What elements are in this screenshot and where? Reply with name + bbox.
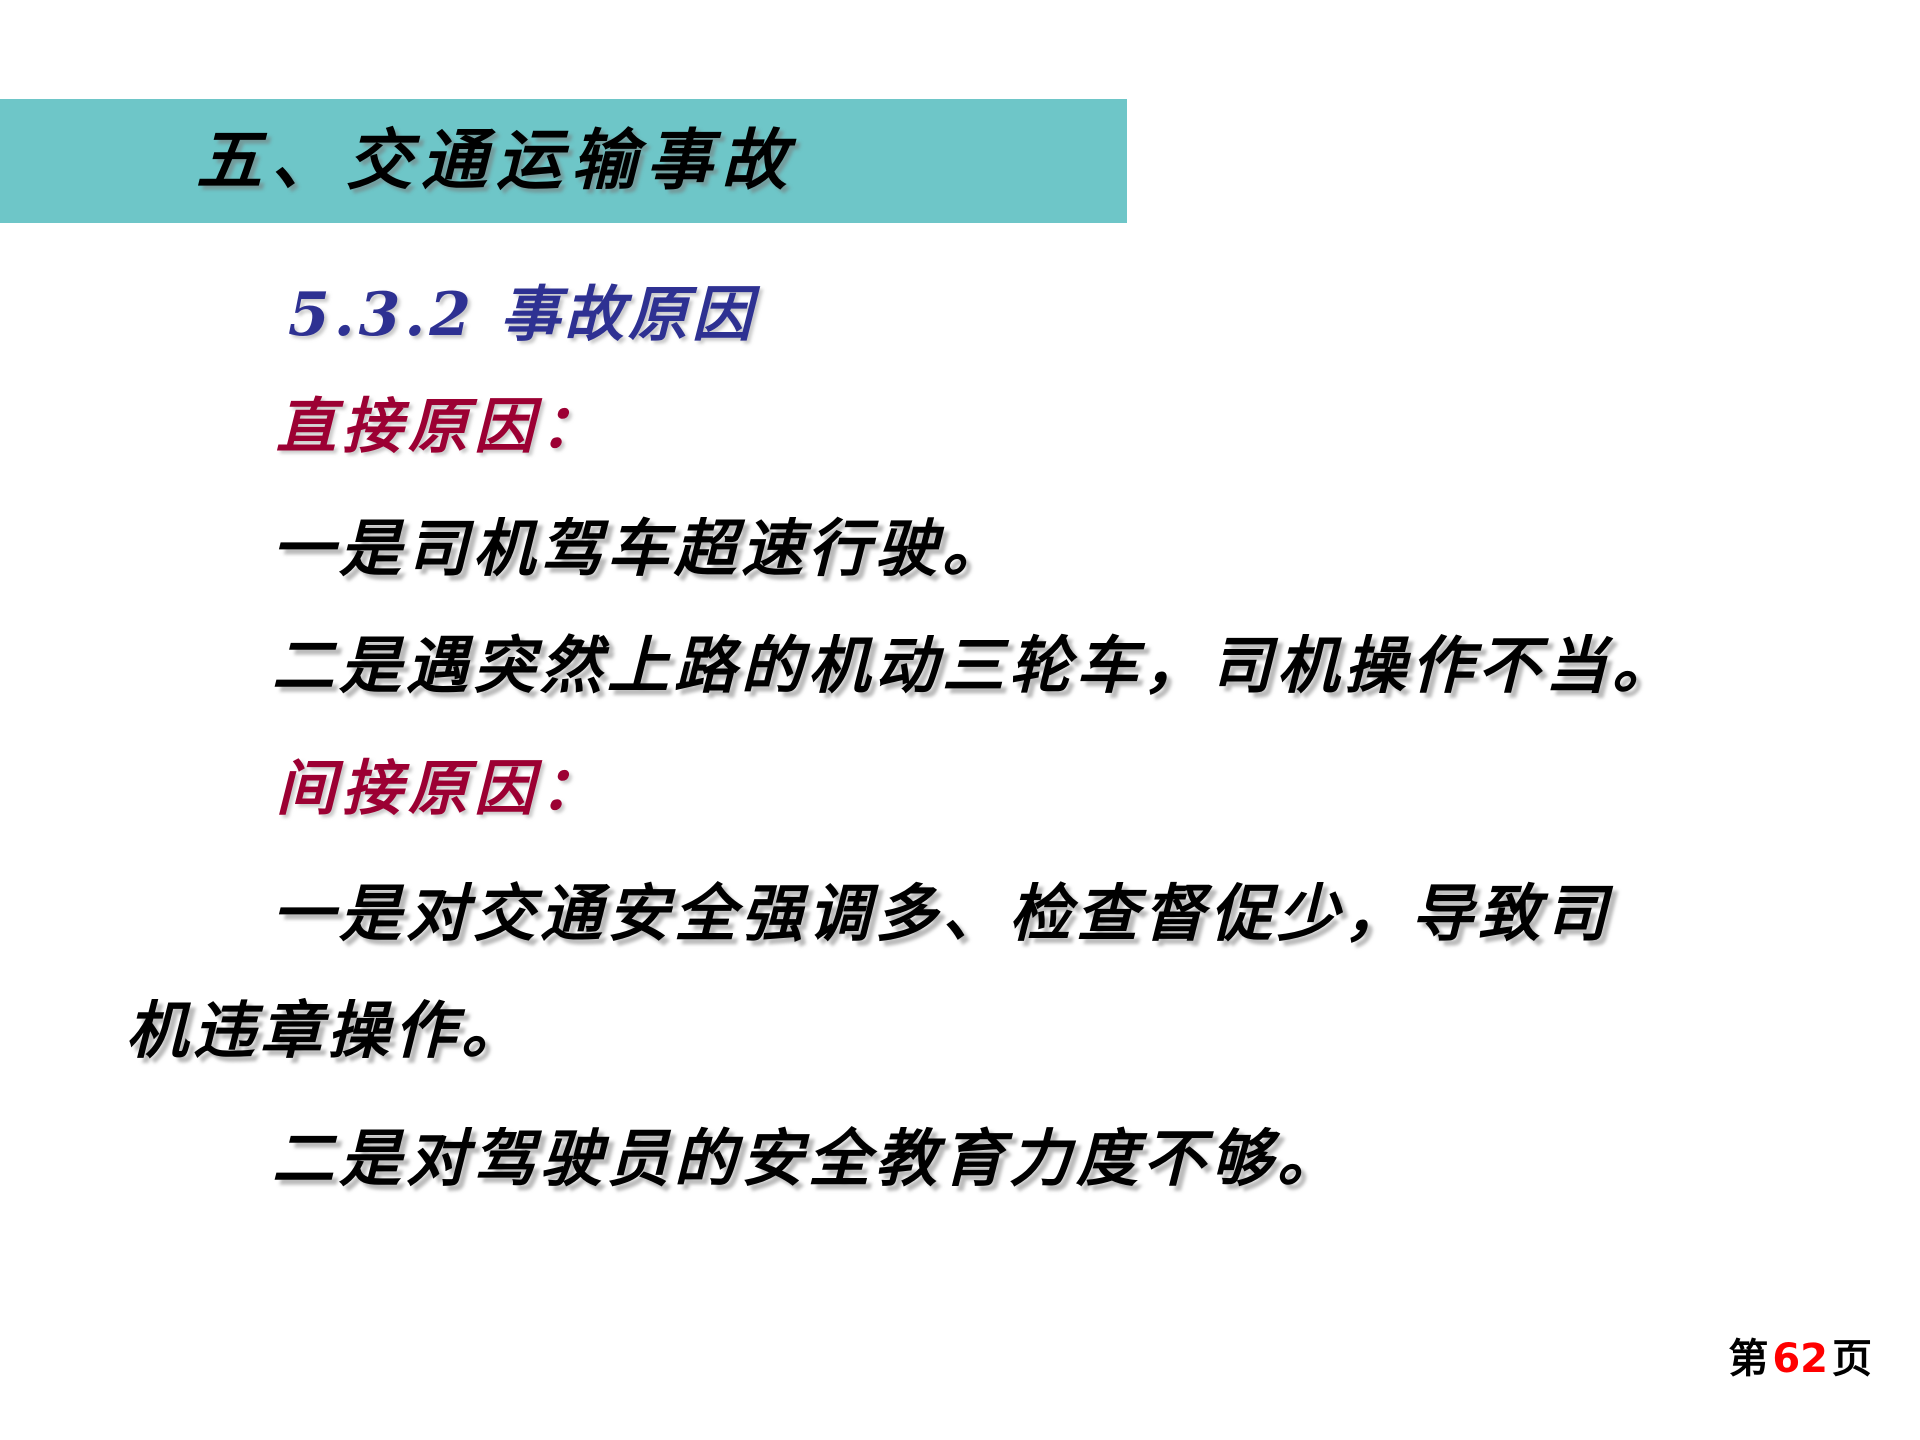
page-number: 62 xyxy=(1768,1336,1832,1382)
indirect-cause-item-1-part-2: 机违章操作。 xyxy=(126,980,528,1070)
direct-cause-item-1: 一是司机驾车超速行驶。 xyxy=(272,498,1009,588)
page-footer-prefix: 第 xyxy=(1728,1336,1768,1382)
direct-cause-heading: 直接原因： xyxy=(276,378,606,465)
slide-canvas: 五、交通运输事故 5.3.2 事故原因 直接原因： 一是司机驾车超速行驶。 二是… xyxy=(0,0,1920,1440)
page-footer-suffix: 页 xyxy=(1832,1336,1872,1382)
direct-cause-item-2: 二是遇突然上路的机动三轮车，司机操作不当。 xyxy=(272,615,1679,705)
page-title: 五、交通运输事故 xyxy=(196,104,1096,219)
indirect-cause-heading: 间接原因： xyxy=(276,740,606,827)
page-footer: 第62页 xyxy=(1728,1326,1872,1384)
indirect-cause-item-2: 二是对驾驶员的安全教育力度不够。 xyxy=(272,1108,1344,1198)
indirect-cause-item-1-part-1: 一是对交通安全强调多、检查督促少，导致司 xyxy=(272,863,1612,953)
section-sub-heading: 5.3.2 事故原因 xyxy=(288,266,756,353)
